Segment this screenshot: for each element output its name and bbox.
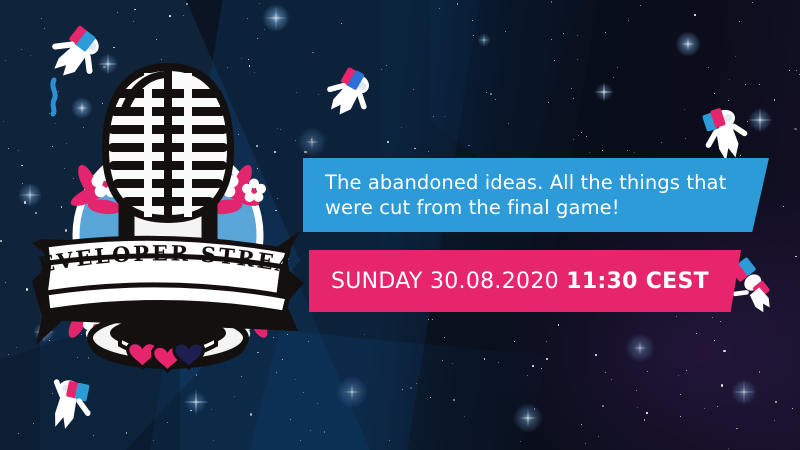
date-prefix: SUNDAY 30.08.2020 [331,269,566,294]
astronaut-bottom-left [42,370,104,446]
astronaut-top-center [318,62,378,132]
developer-stream-logo: DEVELOPER STREAM [28,45,308,375]
headline-bar: The abandoned ideas. All the things that… [303,158,769,232]
date-text: SUNDAY 30.08.2020 11:30 CEST [309,269,709,294]
date-bar: SUNDAY 30.08.2020 11:30 CEST [309,250,741,312]
promo-banner: The abandoned ideas. All the things that… [0,0,800,450]
headline-text: The abandoned ideas. All the things that… [303,170,745,220]
time-value: 11:30 CEST [566,269,709,294]
